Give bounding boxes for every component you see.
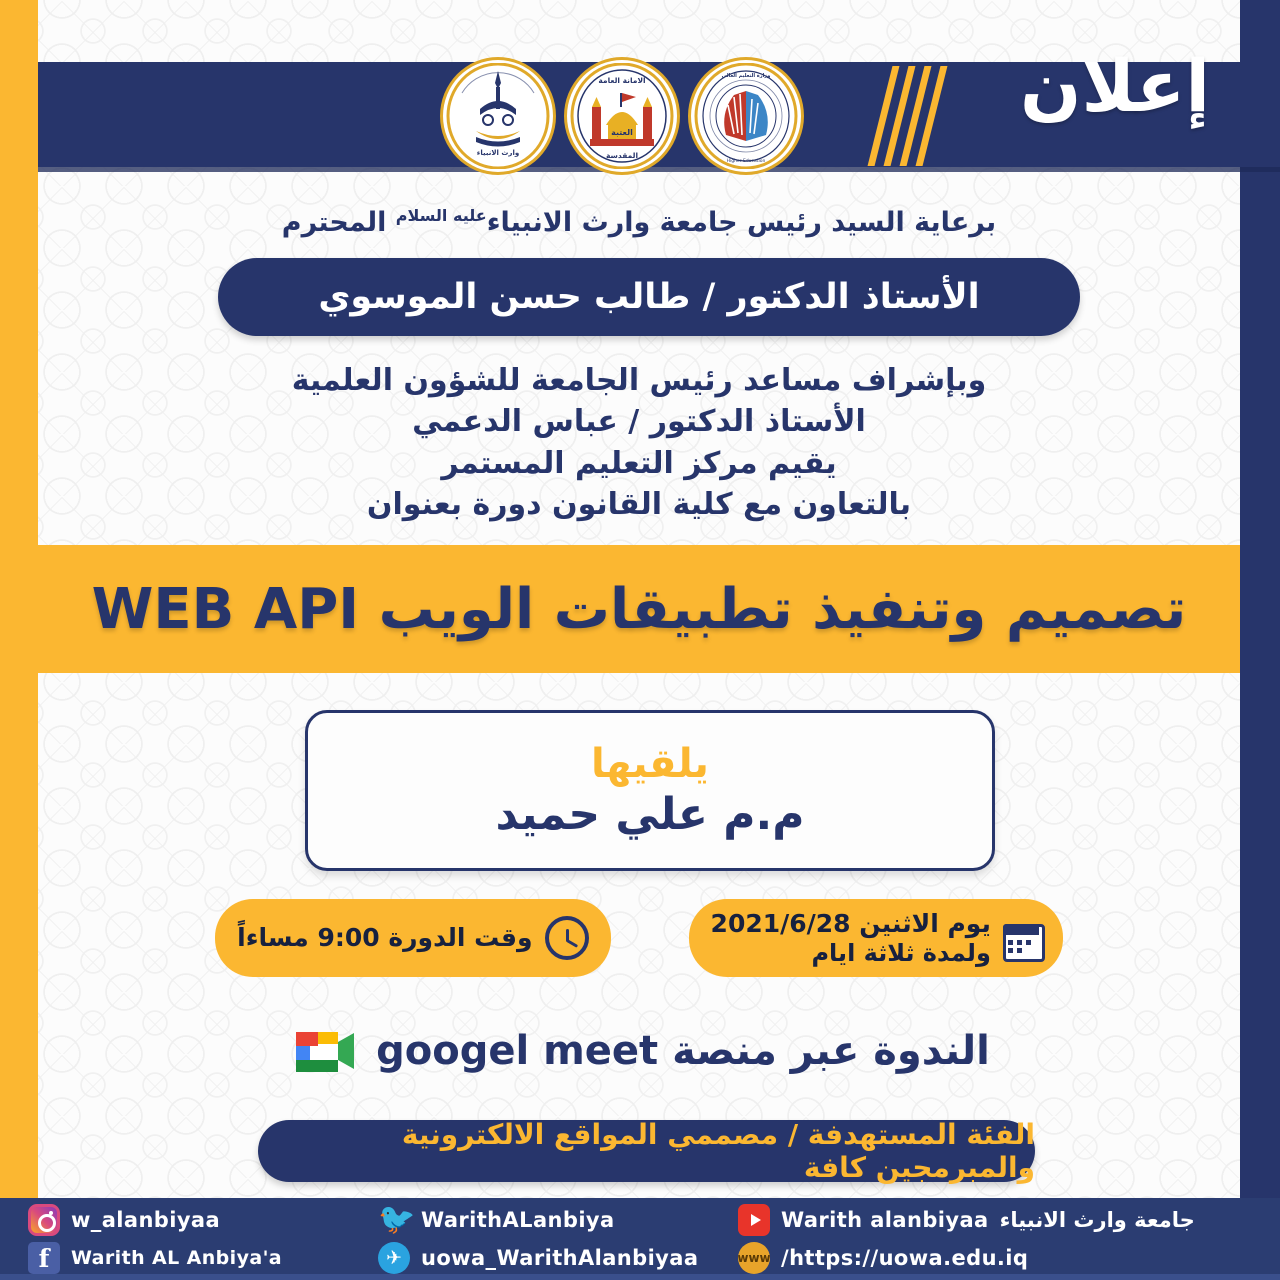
logo-group: وارث الانبياء الامانة العامة المقدسة الع… — [440, 60, 804, 172]
svg-text:المقدسة: المقدسة — [606, 151, 638, 160]
footer-item-youtube[interactable]: Warith alanbiyaa جامعة وارث الانبياء — [738, 1204, 1280, 1236]
footer-item-instagram[interactable]: w_alanbiyaa — [28, 1204, 378, 1236]
twitter-handle: WarithALanbiya — [421, 1208, 615, 1232]
footer-item-telegram[interactable]: ✈ uowa_WarithAlanbiyaa — [378, 1242, 738, 1274]
supervision-line-3: يقيم مركز التعليم المستمر — [38, 443, 1240, 484]
speaker-name: م.م علي حميد — [496, 789, 805, 840]
date-line-2: ولمدة ثلاثة ايام — [711, 939, 991, 968]
time-text: وقت الدورة 9:00 مساءاً — [237, 923, 532, 953]
svg-text:وزارة التعليم العالي: وزارة التعليم العالي — [722, 73, 771, 79]
instagram-handle: w_alanbiyaa — [71, 1208, 220, 1232]
telegram-icon: ✈ — [378, 1242, 410, 1274]
date-badge: يوم الاثنين 2021/6/28 ولمدة ثلاثة ايام — [689, 899, 1063, 978]
youtube-icon — [738, 1204, 770, 1236]
honorific-text: عليه السلام — [396, 206, 487, 225]
poster-root: إعلان وارث الانبياء — [0, 0, 1280, 1280]
website-url: /https://uowa.edu.iq — [781, 1246, 1028, 1270]
target-audience-bar: الفئة المستهدفة / مصممي المواقع الالكترو… — [258, 1120, 1035, 1182]
right-navy-edge-bar — [1240, 0, 1280, 1280]
presented-by-label: يلقيها — [591, 741, 709, 787]
platform-text: الندوة عبر منصة googel meet — [376, 1028, 990, 1074]
ministry-higher-education-seal: وزارة التعليم العالي Higher Education — [688, 57, 804, 175]
website-icon: www — [738, 1242, 770, 1274]
supervision-block: وبإشراف مساعد رئيس الجامعة للشؤون العلمي… — [38, 360, 1240, 526]
course-title-band: تصميم وتنفيذ تطبيقات الويب WEB API — [38, 545, 1240, 673]
target-audience-text: الفئة المستهدفة / مصممي المواقع الالكترو… — [258, 1118, 1035, 1184]
patron-name-pill: الأستاذ الدكتور / طالب حسن الموسوي — [218, 258, 1080, 336]
patron-suffix: المحترم — [282, 207, 387, 238]
gold-diagonal-stripes — [865, 66, 935, 166]
calendar-icon — [1003, 919, 1041, 957]
footer-column-3: Warith alanbiyaa جامعة وارث الانبياء www… — [738, 1198, 1280, 1280]
time-badge: وقت الدورة 9:00 مساءاً — [215, 899, 610, 977]
patron-line: برعاية السيد رئيس جامعة وارث الانبياءعلي… — [38, 206, 1240, 238]
footer-social-bar: w_alanbiyaa f Warith AL Anbiya'a 🐦 Warit… — [0, 1198, 1280, 1280]
patron-text: برعاية السيد رئيس جامعة وارث الانبياء — [487, 207, 997, 238]
twitter-icon: 🐦 — [378, 1204, 410, 1236]
footer-column-1: w_alanbiyaa f Warith AL Anbiya'a — [28, 1198, 378, 1280]
youtube-handle: Warith alanbiyaa — [781, 1208, 989, 1232]
facebook-icon: f — [28, 1242, 60, 1274]
course-title: تصميم وتنفيذ تطبيقات الويب WEB API — [92, 577, 1187, 642]
supervision-line-2: الأستاذ الدكتور / عباس الدعمي — [38, 401, 1240, 442]
left-gold-edge-bar — [0, 0, 38, 1280]
announcement-title: إعلان — [1020, 50, 1210, 122]
schedule-badges: يوم الاثنين 2021/6/28 ولمدة ثلاثة ايام و… — [38, 898, 1240, 978]
footer-item-website[interactable]: www /https://uowa.edu.iq — [738, 1242, 1280, 1274]
date-line-1: يوم الاثنين 2021/6/28 — [711, 909, 991, 939]
svg-text:الامانة العامة: الامانة العامة — [598, 76, 645, 85]
university-warith-alanbiyaa-seal: وارث الانبياء — [440, 57, 556, 175]
instagram-icon — [28, 1204, 60, 1236]
platform-row: الندوة عبر منصة googel meet — [38, 1018, 1240, 1084]
svg-text:العتبة: العتبة — [611, 128, 633, 137]
footer-item-facebook[interactable]: f Warith AL Anbiya'a — [28, 1242, 378, 1274]
svg-text:Higher Education: Higher Education — [727, 158, 766, 164]
university-arabic-name: جامعة وارث الانبياء — [1000, 1208, 1195, 1232]
al-abbas-holy-shrine-seal: الامانة العامة المقدسة العتبة — [564, 57, 680, 175]
speaker-box: يلقيها م.م علي حميد — [305, 710, 995, 871]
telegram-handle: uowa_WarithAlanbiyaa — [421, 1246, 698, 1270]
svg-text:وارث الانبياء: وارث الانبياء — [477, 149, 519, 157]
footer-item-twitter[interactable]: 🐦 WarithALanbiya — [378, 1204, 738, 1236]
supervision-line-1: وبإشراف مساعد رئيس الجامعة للشؤون العلمي… — [38, 360, 1240, 401]
patron-name: الأستاذ الدكتور / طالب حسن الموسوي — [318, 277, 979, 317]
supervision-line-4: بالتعاون مع كلية القانون دورة بعنوان — [38, 484, 1240, 525]
facebook-handle: Warith AL Anbiya'a — [71, 1247, 282, 1269]
clock-icon — [545, 916, 589, 960]
footer-bottom-strip — [0, 1274, 1280, 1280]
footer-column-2: 🐦 WarithALanbiya ✈ uowa_WarithAlanbiyaa — [378, 1198, 738, 1280]
google-meet-icon — [288, 1024, 360, 1078]
